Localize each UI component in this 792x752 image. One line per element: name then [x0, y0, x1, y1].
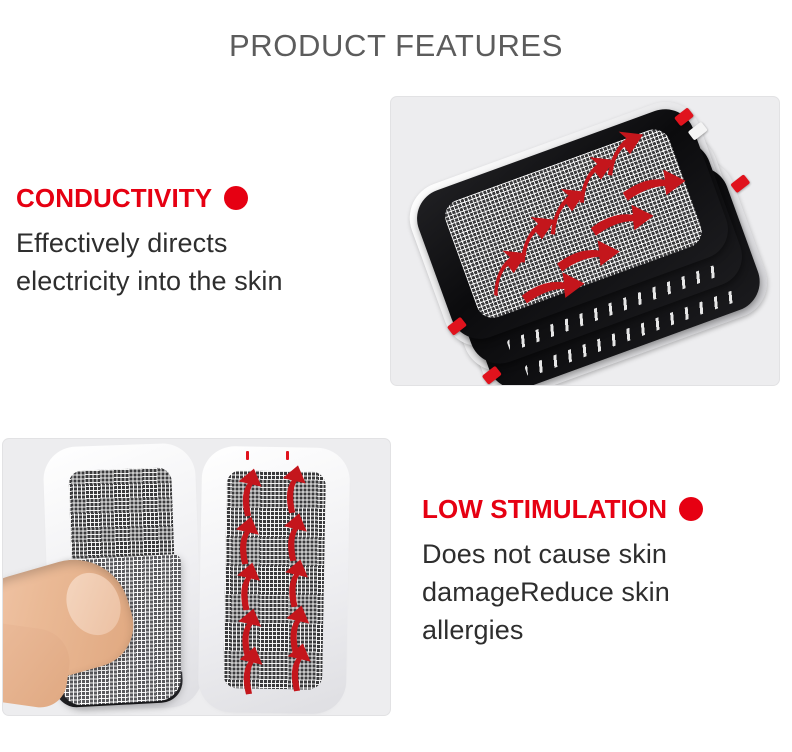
- feature-block-low-stimulation: LOW STIMULATION Does not cause skin dama…: [422, 494, 792, 650]
- pad-red-tick: [286, 451, 289, 460]
- feature-body-conductivity: Effectively directs electricity into the…: [16, 224, 388, 301]
- feature-body-line: electricity into the skin: [16, 262, 388, 300]
- electrode-pad-right: [206, 454, 342, 706]
- page-title: PRODUCT FEATURES: [0, 28, 792, 64]
- feature-heading-conductivity: CONDUCTIVITY: [16, 183, 388, 214]
- product-features-page: PRODUCT FEATURES CONDUCTIVITY Effectivel…: [0, 0, 792, 752]
- feature-heading-low-stimulation: LOW STIMULATION: [422, 494, 792, 525]
- photo-stage: [3, 439, 390, 715]
- red-dot-icon: [679, 497, 703, 521]
- feature-body-line: Does not cause skin: [422, 535, 792, 573]
- stacked-electrode-pads-photo: [390, 96, 780, 386]
- red-dot-icon: [224, 186, 248, 210]
- pad-mesh-surface: [223, 470, 326, 690]
- feature-heading-label: LOW STIMULATION: [422, 494, 667, 525]
- feature-body-low-stimulation: Does not cause skin damageReduce skin al…: [422, 535, 792, 650]
- electrode-pad-peel-photo: [2, 438, 391, 716]
- feature-body-line: Effectively directs: [16, 224, 388, 262]
- pad-red-tick: [246, 451, 249, 460]
- photo-stage: [391, 97, 779, 385]
- feature-block-conductivity: CONDUCTIVITY Effectively directs electri…: [16, 183, 388, 300]
- feature-body-line: allergies: [422, 611, 792, 649]
- electrode-pad-stack: [392, 96, 780, 386]
- feature-heading-label: CONDUCTIVITY: [16, 183, 212, 214]
- feature-body-line: damageReduce skin: [422, 573, 792, 611]
- pad-connector-tab: [688, 122, 708, 141]
